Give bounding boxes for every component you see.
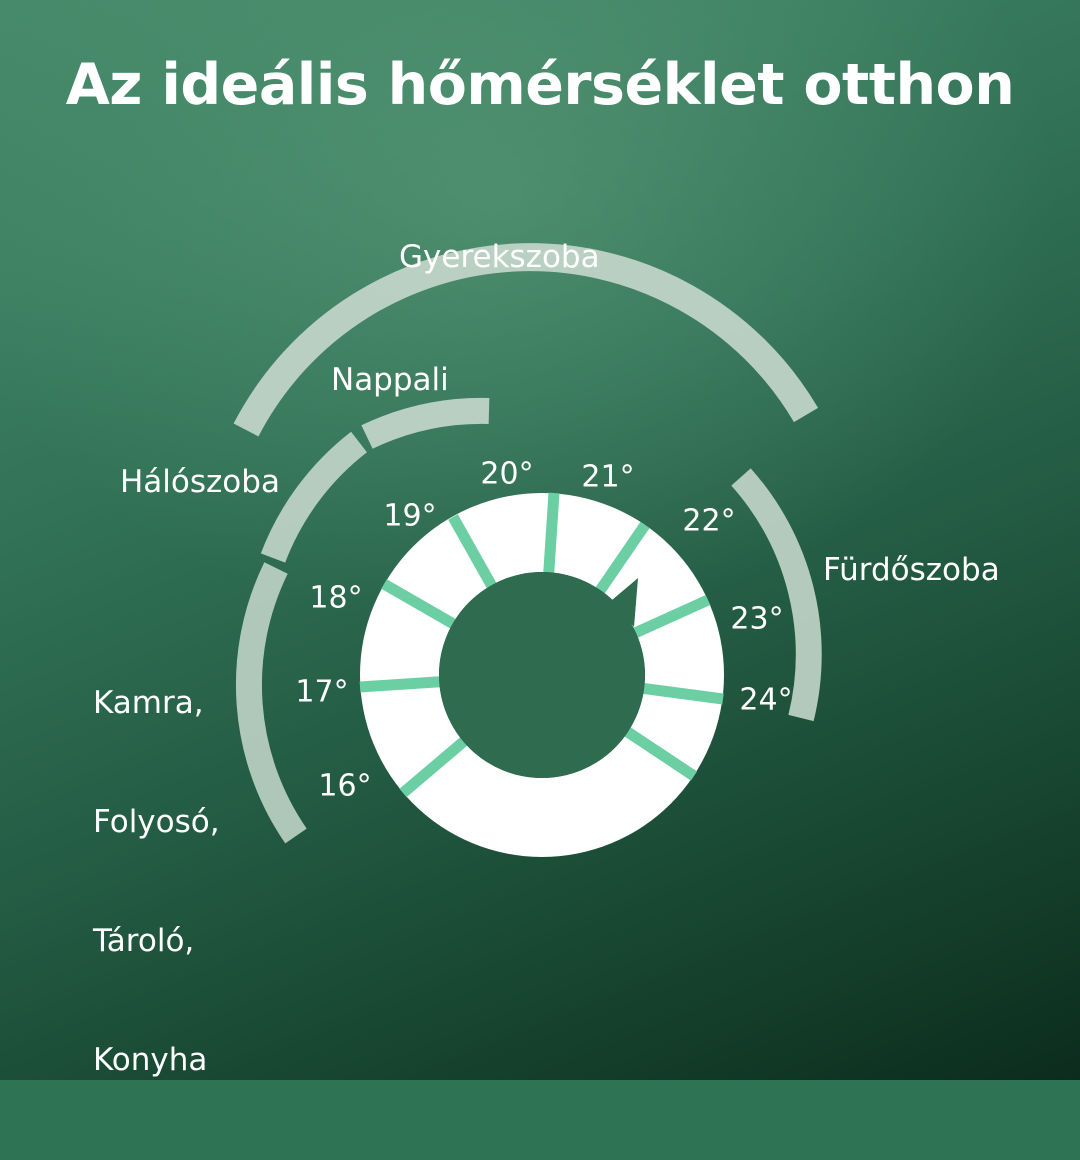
room-label-kamra-line-2: Folyosó, [93, 803, 220, 843]
tick-label-17: 17° [295, 675, 348, 710]
tick-label-20: 20° [480, 457, 533, 492]
tick-label-16: 16° [318, 769, 371, 804]
tick-label-23: 23° [730, 602, 783, 637]
tick-label-19: 19° [383, 499, 436, 534]
room-label-furdoszoba: Fürdőszoba [823, 551, 1000, 591]
donut-hub [439, 572, 645, 778]
tick-label-24: 24° [739, 683, 792, 718]
tick-label-22: 22° [682, 504, 735, 539]
room-label-kamra-group: Kamra, Folyosó, Tároló, Konyha [93, 605, 220, 1160]
room-label-nappali: Nappali [331, 361, 449, 401]
room-label-kamra-line-1: Kamra, [93, 684, 220, 724]
room-label-kamra-line-3: Tároló, [93, 922, 220, 962]
hub-disc-top [439, 572, 645, 778]
tick-label-21: 21° [581, 460, 634, 495]
donut-ring [360, 493, 724, 857]
band-gyerekszoba[interactable] [246, 257, 806, 430]
band-nappali[interactable] [367, 411, 489, 437]
band-haloszoba[interactable] [273, 442, 359, 558]
room-label-kamra-line-4: Konyha [93, 1041, 220, 1081]
band-ring-outer [246, 257, 806, 430]
room-label-gyerekszoba: Gyerekszoba [399, 238, 600, 278]
band-kamra-folyoso-tarolo-konyha[interactable] [249, 568, 296, 836]
tick-label-18: 18° [309, 581, 362, 616]
room-label-haloszoba: Hálószoba [120, 463, 280, 503]
infographic-canvas: Az ideális hőmérséklet otthon [0, 0, 1080, 1080]
